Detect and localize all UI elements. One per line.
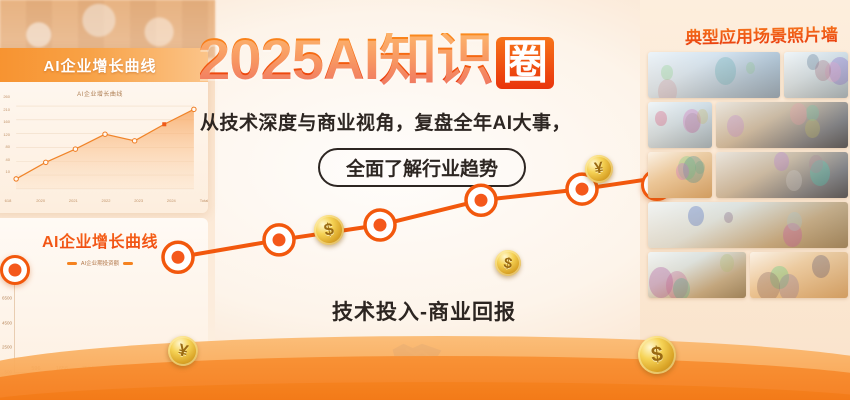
poster-canvas: AI企业增长曲线 AI企业增长曲线 260210160120804010 618…	[0, 0, 850, 400]
bar-chart-y-tick: 2500	[2, 345, 12, 350]
left-chart-point	[44, 160, 48, 164]
hero-data-point[interactable]	[466, 185, 496, 215]
left-chart-x-tick: 2020	[36, 198, 45, 203]
photo-wall-item[interactable]	[648, 202, 848, 248]
left-chart-y-tick: 10	[6, 169, 10, 174]
left-chart-y-tick: 210	[3, 107, 10, 112]
hero-data-point[interactable]	[365, 210, 395, 240]
poster-title-boxed-char: 圈	[496, 37, 554, 89]
hero-growth-chart-svg	[160, 150, 705, 350]
photo-blobs	[648, 52, 780, 98]
photo-blobs	[784, 52, 848, 98]
left-chart-y-tick: 120	[3, 132, 10, 137]
photo-blobs	[750, 252, 848, 298]
photo-wall-item[interactable]	[648, 52, 780, 98]
poster-subtitle: 从技术深度与商业视角，复盘全年AI大事，	[200, 108, 571, 135]
left-chart-y-tick: 260	[3, 94, 10, 99]
left-chart-y-tick: 40	[6, 157, 10, 162]
photo-wall-item[interactable]	[716, 152, 848, 198]
left-chart-point	[14, 177, 18, 181]
photo-wall-item[interactable]	[648, 252, 746, 298]
left-card-header: AI企业增长曲线	[0, 48, 208, 82]
left-chart-point	[192, 107, 196, 111]
left-chart-x-tick: 618	[5, 198, 12, 203]
left-chart-point	[132, 139, 136, 143]
hero-line-path	[178, 174, 683, 257]
photo-blobs	[648, 102, 712, 148]
photo-blobs	[648, 202, 848, 248]
photo-wall-grid	[648, 52, 848, 382]
photo-blobs	[648, 252, 746, 298]
bar-chart-y-tick: 6500	[2, 295, 12, 300]
marker-badge-left-icon	[0, 255, 30, 285]
poster-title-main: 2025AI知识	[198, 33, 493, 86]
left-chart-x-tick: 2021	[69, 198, 78, 203]
legend-swatch-icon-2	[123, 262, 133, 265]
photo-wall-item[interactable]	[784, 52, 848, 98]
left-chart-y-tick: 160	[3, 119, 10, 124]
left-chart-x-tick: 2022	[102, 198, 111, 203]
legend-label: AI企业期投资额	[81, 259, 119, 267]
hero-data-point[interactable]	[264, 225, 294, 255]
poster-title: 2025AI知识 圈	[198, 33, 554, 89]
photo-blobs	[716, 102, 848, 148]
photo-wall-item[interactable]	[716, 102, 848, 148]
left-chart-x-tick: 2023	[134, 198, 143, 203]
photo-wall-item[interactable]	[648, 152, 712, 198]
left-chart-point	[103, 132, 107, 136]
left-chart-point	[162, 122, 166, 126]
left-chart-point	[73, 147, 77, 151]
left-chart-caption: AI企业增长曲线	[0, 89, 208, 98]
left-chart-y-tick: 80	[6, 144, 10, 149]
photo-blobs	[716, 152, 848, 198]
legend-swatch-icon	[67, 262, 77, 265]
hero-growth-chart	[160, 150, 705, 350]
left-chart-y-axis: 260210160120804010	[0, 94, 10, 178]
bar-chart-y-tick: 4500	[2, 320, 12, 325]
photo-blobs	[648, 152, 712, 198]
photo-wall-item[interactable]	[648, 102, 712, 148]
hero-data-point[interactable]	[163, 242, 193, 272]
photo-wall-item[interactable]	[750, 252, 848, 298]
left-card-header-label: AI企业增长曲线	[43, 55, 156, 76]
photo-wall-title: 典型应用场景照片墙	[685, 20, 838, 48]
